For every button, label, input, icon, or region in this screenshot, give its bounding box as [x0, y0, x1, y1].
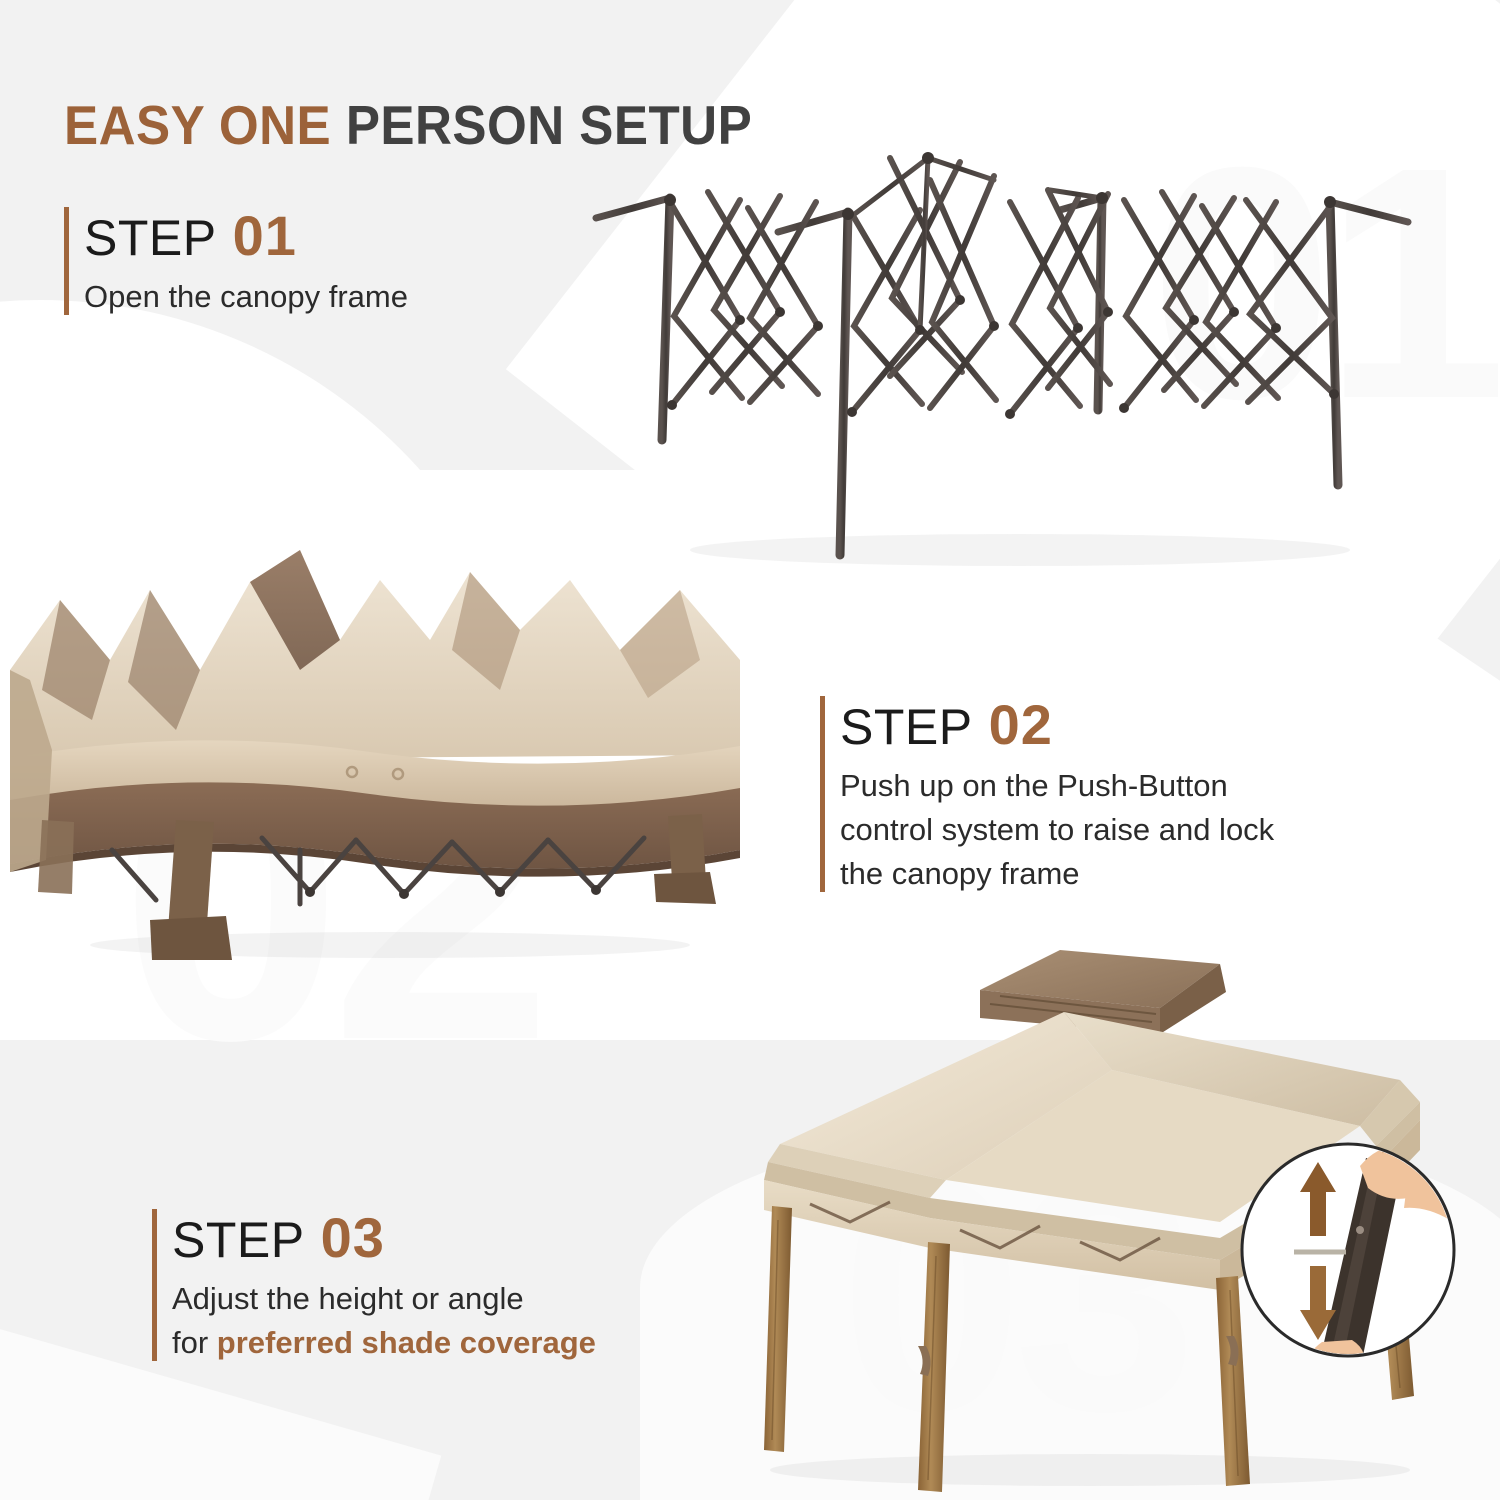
step-03-label: STEP — [172, 1212, 305, 1268]
step-03-body-line-1: Adjust the height or angle — [172, 1277, 596, 1321]
step-block-01: STEP01 Open the canopy frame — [64, 203, 408, 319]
step-02-body-line-1: Push up on the Push-Button — [840, 764, 1274, 808]
step-02-body-line-3: the canopy frame — [840, 852, 1274, 896]
step-01-body: Open the canopy frame — [84, 275, 408, 319]
step-03-heading: STEP03 — [172, 1205, 596, 1271]
step-02-heading: STEP02 — [840, 692, 1274, 758]
illustration-assembled-gazebo — [660, 930, 1500, 1500]
step-03-body-line-2: for preferred shade coverage — [172, 1321, 596, 1365]
step-03-body: Adjust the height or angle for preferred… — [172, 1277, 596, 1365]
height-adjust-inset — [1242, 1144, 1490, 1405]
step-03-number: 03 — [321, 1206, 385, 1269]
step-02-body-line-2: control system to raise and lock — [840, 808, 1274, 852]
step-01-heading: STEP01 — [84, 203, 408, 269]
step-block-03: STEP03 Adjust the height or angle for pr… — [152, 1205, 596, 1365]
step-01-label: STEP — [84, 210, 217, 266]
step-01-number: 01 — [233, 204, 297, 267]
step-03-body-prefix: for — [172, 1325, 217, 1360]
step-02-number: 02 — [989, 693, 1053, 756]
step-02-label: STEP — [840, 699, 973, 755]
step-block-02: STEP02 Push up on the Push-Button contro… — [820, 692, 1274, 896]
illustration-canopy-frame — [590, 140, 1420, 570]
infographic-page: 01 02 03 EASY ONE PERSON SETUP STEP01 Op… — [0, 0, 1500, 1500]
page-title-highlight: EASY ONE — [64, 94, 331, 156]
step-03-body-accent: preferred shade coverage — [217, 1325, 596, 1360]
step-02-body: Push up on the Push-Button control syste… — [840, 764, 1274, 896]
illustration-canopy-draped — [0, 520, 760, 960]
